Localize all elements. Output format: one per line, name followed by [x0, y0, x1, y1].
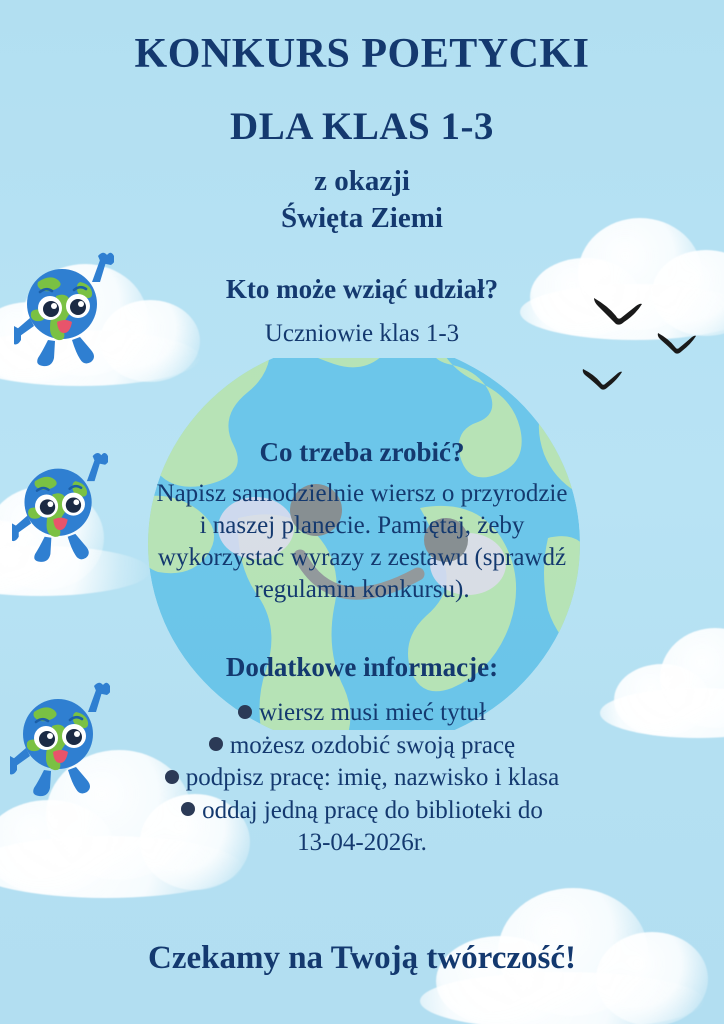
bullet-dot-icon — [209, 737, 223, 751]
poster-footer: Czekamy na Twoją twórczość! — [0, 940, 724, 977]
deadline-date: 13-04-2026r. — [0, 827, 724, 860]
section-what-body-line-2: i naszej planecie. Pamiętaj, żeby — [0, 510, 724, 542]
section-who-heading: Kto może wziąć udział? — [0, 274, 724, 305]
section-what-body-line-4: regulamin konkursu). — [0, 574, 724, 606]
list-item: podpisz pracę: imię, nazwisko i klasa — [0, 762, 724, 795]
section-extra-body: wiersz musi mieć tytuł możesz ozdobić sw… — [0, 697, 724, 860]
list-item-label: podpisz pracę: imię, nazwisko i klasa — [186, 764, 560, 791]
list-item-label: wiersz musi mieć tytuł — [259, 699, 486, 726]
bullet-dot-icon — [181, 802, 195, 816]
earth-mascot-1 — [14, 252, 114, 368]
list-item: wiersz musi mieć tytuł — [0, 697, 724, 730]
section-what-heading: Co trzeba zrobić? — [0, 437, 724, 468]
list-item: oddaj jedną pracę do biblioteki do — [0, 795, 724, 828]
section-who-body: Uczniowie klas 1-3 — [0, 318, 724, 350]
poster-subtitle-line-1: z okazji — [0, 163, 724, 200]
bullet-dot-icon — [165, 770, 179, 784]
poster-subtitle: z okazji Święta Ziemi — [0, 163, 724, 237]
poster-root: KONKURS POETYCKI DLA KLAS 1-3 z okazji Ś… — [0, 0, 724, 1024]
list-item-label: możesz ozdobić swoją pracę — [230, 732, 515, 759]
section-what-body-line-3: wykorzystać wyrazy z zestawu (sprawdź — [0, 542, 724, 574]
section-what-body-line-1: Napisz samodzielnie wiersz o przyrodzie — [0, 478, 724, 510]
poster-title-line-1: KONKURS POETYCKI — [0, 30, 724, 78]
extra-info-list: wiersz musi mieć tytuł możesz ozdobić sw… — [0, 697, 724, 827]
list-item-label: oddaj jedną pracę do biblioteki do — [202, 797, 543, 824]
list-item: możesz ozdobić swoją pracę — [0, 730, 724, 763]
poster-title-line-2: DLA KLAS 1-3 — [0, 104, 724, 149]
poster-subtitle-line-2: Święta Ziemi — [0, 200, 724, 237]
bird-silhouette-3 — [580, 366, 624, 398]
bullet-dot-icon — [238, 705, 252, 719]
section-extra-heading: Dodatkowe informacje: — [0, 652, 724, 683]
section-what-body: Napisz samodzielnie wiersz o przyrodzie … — [0, 478, 724, 606]
